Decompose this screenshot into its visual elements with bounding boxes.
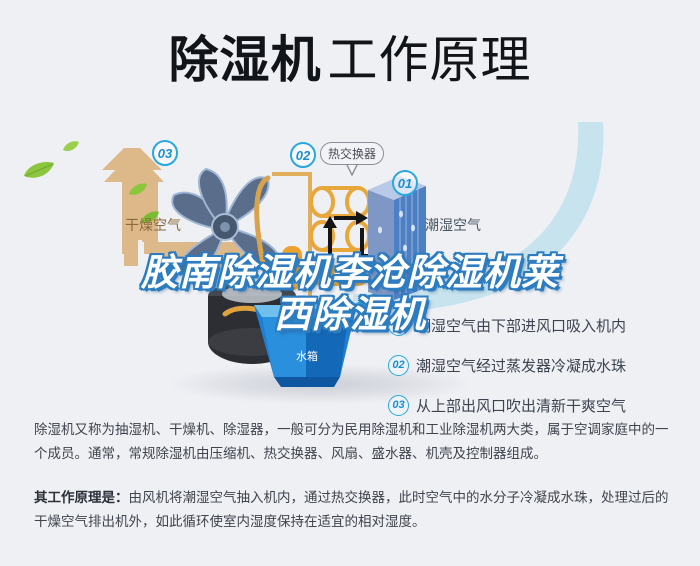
paragraph-2-lead: 其工作原理是： — [34, 490, 129, 505]
leaf-icon — [22, 160, 56, 182]
step-item: 03 从上部出风口吹出清新干爽空气 — [388, 395, 688, 416]
body-copy: 除湿机又称为抽湿机、干燥机、除湿器，一般可分为民用除湿机和工业除湿机两大类，属于… — [34, 418, 674, 542]
page-title-part-b: 工作原理 — [328, 32, 532, 88]
label-water-tank: 水箱 — [296, 348, 318, 364]
dehumidifier-diagram: 热交换器 01 02 03 干燥空气 潮湿空气 水箱 01 潮湿空气由下部进风口… — [0, 110, 700, 410]
step-badge-03: 03 — [388, 395, 409, 416]
page-title-part-a: 除湿机 — [169, 31, 322, 89]
callout-heat-exchanger: 热交换器 — [320, 142, 384, 165]
page-title: 除湿机工作原理 — [0, 30, 700, 90]
paragraph-2: 其工作原理是：由风机将潮湿空气抽入机内，通过热交换器，此时空气中的水分子冷凝成水… — [34, 486, 674, 534]
diagram-badge-03: 03 — [152, 140, 178, 166]
step-item: 01 潮湿空气由下部进风口吸入机内 — [388, 315, 688, 336]
label-humid-air: 潮湿空气 — [425, 215, 481, 235]
step-text-01: 潮湿空气由下部进风口吸入机内 — [416, 315, 626, 336]
step-badge-01: 01 — [388, 315, 409, 336]
step-text-02: 潮湿空气经过蒸发器冷凝成水珠 — [416, 355, 626, 376]
leaf-icon — [62, 140, 80, 154]
water-tank — [248, 295, 363, 390]
label-dry-air: 干燥空气 — [125, 215, 181, 235]
step-list: 01 潮湿空气由下部进风口吸入机内 02 潮湿空气经过蒸发器冷凝成水珠 03 从… — [388, 315, 688, 435]
paragraph-1: 除湿机又称为抽湿机、干燥机、除湿器，一般可分为民用除湿机和工业除湿机两大类，属于… — [34, 418, 674, 466]
leaf-icon — [128, 182, 148, 198]
infographic-page: 除湿机工作原理 — [0, 0, 700, 566]
diagram-badge-02: 02 — [290, 142, 316, 168]
step-badge-02: 02 — [388, 355, 409, 376]
paragraph-2-rest: 由风机将潮湿空气抽入机内，通过热交换器，此时空气中的水分子冷凝成水珠，处理过后的… — [34, 490, 669, 529]
step-text-03: 从上部出风口吹出清新干爽空气 — [416, 395, 626, 416]
step-item: 02 潮湿空气经过蒸发器冷凝成水珠 — [388, 355, 688, 376]
diagram-badge-01: 01 — [392, 170, 418, 196]
